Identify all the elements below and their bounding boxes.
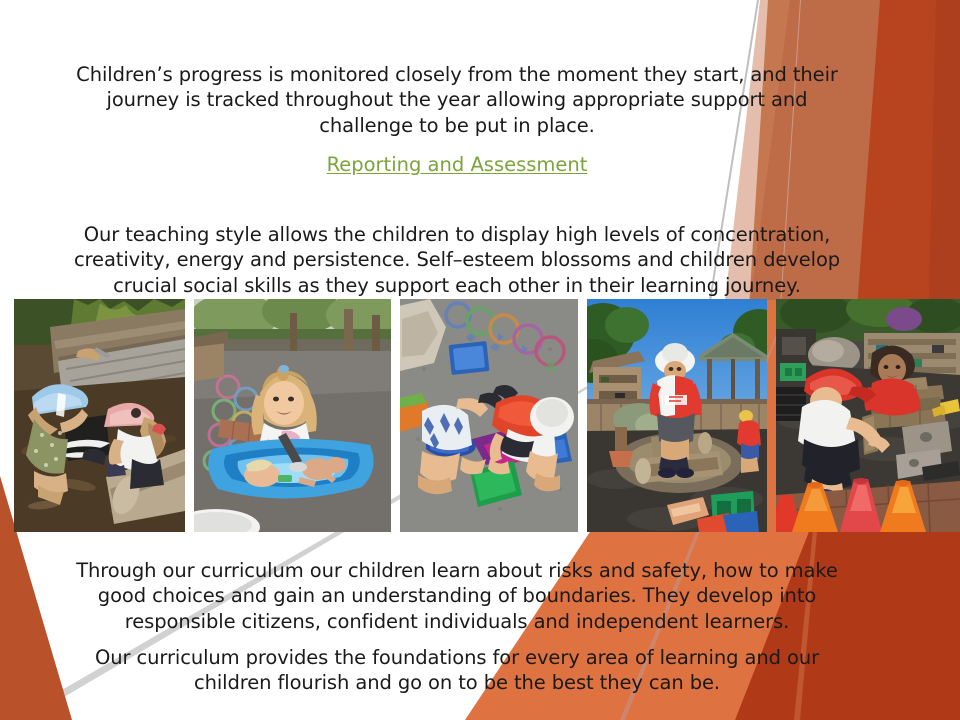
- photo-girl-washing-dolls: [194, 299, 391, 532]
- paragraph-monitoring: Children’s progress is monitored closely…: [62, 62, 852, 138]
- photo-children-gardening: [14, 299, 185, 532]
- photo-boy-on-logs: [587, 299, 767, 532]
- presentation-slide: Children’s progress is monitored closely…: [0, 0, 960, 720]
- photo-strip: [14, 299, 946, 532]
- link-container: Reporting and Assessment: [62, 152, 852, 177]
- link-reporting-and-assessment[interactable]: Reporting and Assessment: [327, 153, 588, 176]
- photo-children-building-blocks: [776, 299, 960, 532]
- paragraph-risks-and-safety: Through our curriculum our children lear…: [62, 558, 852, 634]
- photo-children-colour-mats: [400, 299, 578, 532]
- paragraph-teaching-style: Our teaching style allows the children t…: [52, 222, 862, 298]
- paragraph-curriculum-foundations: Our curriculum provides the foundations …: [62, 645, 852, 696]
